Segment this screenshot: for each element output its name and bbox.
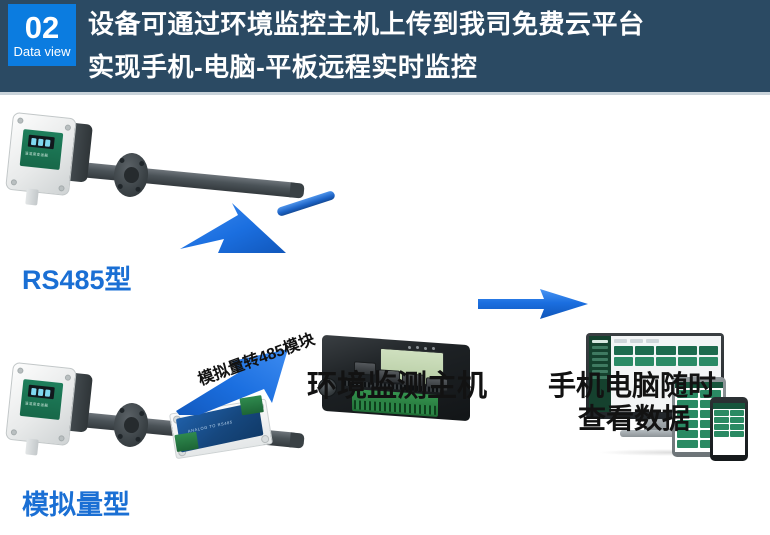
data-card[interactable] bbox=[714, 417, 729, 423]
header-title-group: 设备可通过环境监控主机上传到我司免费云平台 实现手机-电脑-平板远程实时监控 bbox=[88, 3, 764, 89]
sidebar-item[interactable] bbox=[592, 358, 608, 361]
sensor-faceplate: 温湿度变送器 bbox=[20, 379, 64, 420]
sidebar-item[interactable] bbox=[592, 352, 608, 355]
display-digit bbox=[45, 389, 51, 396]
probe-tip bbox=[289, 432, 304, 448]
caption-analog: 模拟量型 bbox=[22, 490, 130, 521]
host-to-cloud-arrow bbox=[478, 289, 590, 323]
flange-bolt bbox=[135, 437, 140, 442]
host-status-led bbox=[432, 347, 435, 350]
toolbar-chip[interactable] bbox=[614, 339, 627, 343]
toolbar-chip[interactable] bbox=[630, 339, 643, 343]
header-title-line1: 设备可通过环境监控主机上传到我司免费云平台 bbox=[88, 3, 764, 46]
sensor-enclosure: 温湿度变送器 bbox=[5, 362, 77, 446]
data-card[interactable] bbox=[730, 431, 745, 437]
data-card[interactable] bbox=[614, 346, 633, 355]
data-card[interactable] bbox=[678, 357, 697, 366]
sensor-faceplate: 温湿度变送器 bbox=[20, 129, 64, 170]
data-card[interactable] bbox=[714, 431, 729, 437]
data-card[interactable] bbox=[730, 410, 745, 416]
host-status-led bbox=[416, 346, 419, 349]
cable-gland bbox=[25, 438, 39, 455]
flange-bolt bbox=[119, 158, 124, 163]
dashboard-card-grid bbox=[614, 346, 718, 366]
phone-device bbox=[710, 397, 748, 461]
display-digit bbox=[31, 388, 37, 395]
caption-host: 环境监测主机 bbox=[307, 370, 487, 405]
data-card[interactable] bbox=[635, 346, 654, 355]
toolbar-chip[interactable] bbox=[646, 339, 659, 343]
data-card[interactable] bbox=[678, 346, 697, 355]
data-card[interactable] bbox=[635, 357, 654, 366]
data-card[interactable] bbox=[730, 417, 745, 423]
cable-gland bbox=[25, 188, 39, 205]
diagram-stage: 温湿度变送器 RS485型 bbox=[0, 95, 770, 535]
host-status-led bbox=[424, 347, 427, 350]
display-digit bbox=[31, 138, 37, 145]
sensor-display bbox=[28, 135, 55, 150]
flange-bolt bbox=[117, 434, 122, 439]
sensor-enclosure: 温湿度变送器 bbox=[5, 112, 77, 196]
display-digit bbox=[45, 139, 51, 146]
sensor-brand-text: 温湿度变送器 bbox=[25, 151, 59, 160]
phone-card-grid bbox=[713, 409, 745, 438]
flange-bolt bbox=[139, 411, 144, 416]
phone-screen bbox=[713, 403, 745, 455]
data-card[interactable] bbox=[656, 346, 675, 355]
flange-bolt bbox=[135, 187, 140, 192]
display-digit bbox=[38, 139, 44, 146]
caption-devices-line1: 手机电脑随时 bbox=[548, 370, 716, 402]
data-card[interactable] bbox=[730, 424, 745, 430]
sensor-display bbox=[28, 385, 55, 400]
enclosure-screw bbox=[58, 185, 65, 192]
header-band: 02 Data view 设备可通过环境监控主机上传到我司免费云平台 实现手机-… bbox=[0, 0, 770, 92]
data-card[interactable] bbox=[714, 424, 729, 430]
flange-bolt bbox=[139, 161, 144, 166]
caption-devices-line2: 查看数据 bbox=[578, 403, 690, 435]
display-digit bbox=[38, 389, 44, 396]
flange-bolt bbox=[117, 184, 122, 189]
flange-bolt bbox=[119, 408, 124, 413]
sensor-to-host-arrow bbox=[178, 193, 298, 273]
data-card[interactable] bbox=[699, 346, 718, 355]
header-title-line2: 实现手机-电脑-平板远程实时监控 bbox=[88, 46, 764, 89]
badge-number: 02 bbox=[25, 12, 59, 43]
converter-mount-hole bbox=[261, 434, 270, 443]
dashboard-toolbar bbox=[614, 339, 718, 343]
sensor-brand-text: 温湿度变送器 bbox=[25, 401, 59, 410]
badge-subtitle: Data view bbox=[13, 45, 70, 58]
enclosure-screw bbox=[17, 117, 24, 124]
sidebar-item[interactable] bbox=[592, 346, 608, 349]
data-card[interactable] bbox=[656, 357, 675, 366]
enclosure-screw bbox=[11, 429, 18, 436]
probe-flange bbox=[112, 401, 150, 448]
sidebar-item[interactable] bbox=[592, 364, 608, 367]
data-card[interactable] bbox=[614, 357, 633, 366]
probe-flange bbox=[112, 151, 150, 198]
enclosure-screw bbox=[65, 374, 72, 381]
data-card[interactable] bbox=[677, 440, 698, 448]
data-card[interactable] bbox=[714, 410, 729, 416]
enclosure-screw bbox=[65, 124, 72, 131]
enclosure-screw bbox=[58, 435, 65, 442]
host-status-led bbox=[408, 346, 411, 349]
section-badge: 02 Data view bbox=[8, 4, 76, 66]
converter-terminal-block bbox=[174, 432, 198, 452]
enclosure-screw bbox=[11, 179, 18, 186]
caption-rs485: RS485型 bbox=[22, 265, 132, 296]
data-card[interactable] bbox=[699, 357, 718, 366]
enclosure-screw bbox=[17, 367, 24, 374]
sidebar-logo bbox=[592, 340, 608, 343]
